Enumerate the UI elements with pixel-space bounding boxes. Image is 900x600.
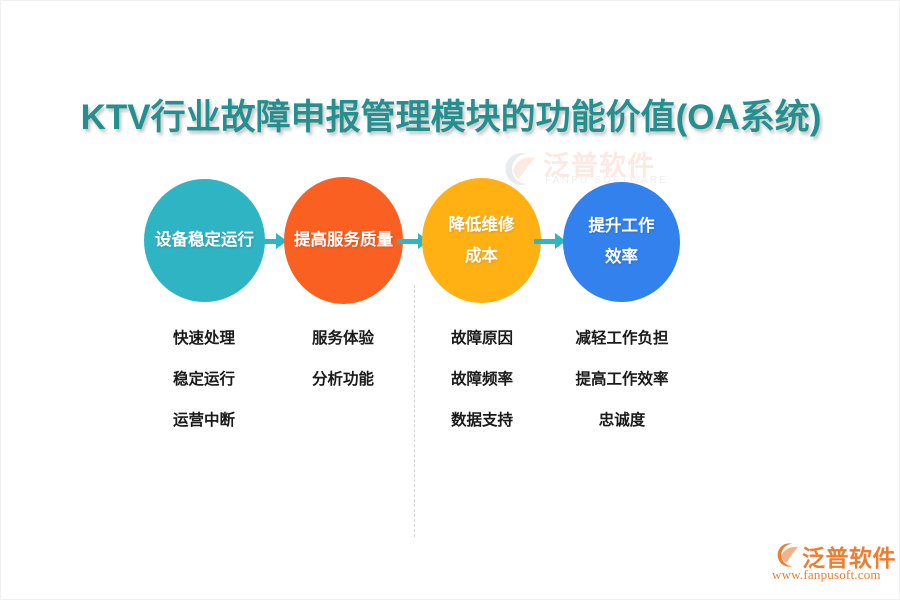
detail-item: 忠诚度 [532,408,712,430]
flow-step-label-4-line-2: 效率 [605,242,638,273]
flow-step-circle-4[interactable]: 提升工作 效率 [563,182,680,302]
flow-step-circle-1[interactable]: 设备稳定运行 [144,179,265,302]
slide-canvas: KTV行业故障申报管理模块的功能价值(OA系统) 泛普软件 FANPU SOFT… [0,0,900,600]
detail-item: 减轻工作负担 [532,326,712,348]
flow-arrow-1-shaft [263,239,276,244]
brand-logo: 泛普软件 www.fanpusoft.com [771,539,893,585]
detail-item: 运营中断 [114,408,294,430]
flow-step-label-2-line-1: 提高服务质量 [294,225,393,256]
flow-step-circle-2[interactable]: 提高服务质量 [284,177,403,304]
flow-arrow-2-shaft [397,239,418,244]
flow-arrow-3 [534,230,566,252]
detail-item: 提高工作效率 [532,367,712,389]
brand-url: www.fanpusoft.com [772,567,881,583]
watermark-name-cn: 泛普软件 [543,144,655,183]
flow-step-label-1-line-1: 设备稳定运行 [155,225,254,256]
fanpu-brand-icon [771,541,801,569]
detail-column-4: 减轻工作负担 提高工作效率 忠诚度 [532,326,712,449]
flow-step-label-4-line-1: 提升工作 [589,211,655,242]
flow-step-label-3-line-1: 降低维修 [449,210,515,241]
flow-arrow-3-shaft [534,239,555,244]
page-title: KTV行业故障申报管理模块的功能价值(OA系统) [1,89,900,140]
flow-step-circle-3[interactable]: 降低维修 成本 [422,178,541,303]
flow-step-label-3-line-2: 成本 [465,241,498,272]
